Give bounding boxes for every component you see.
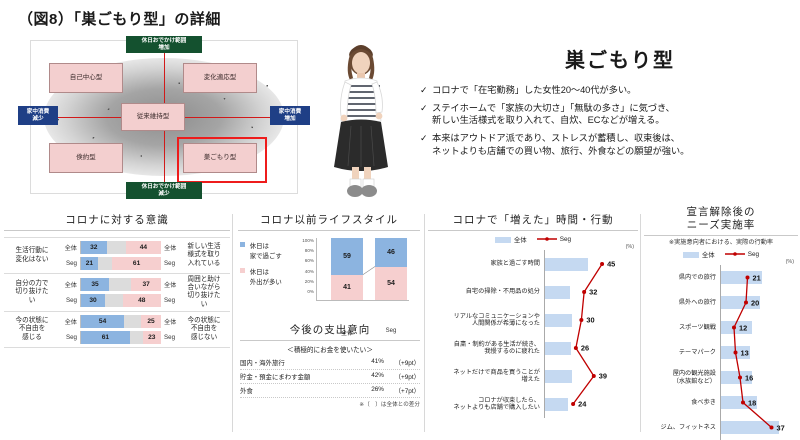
cluster-status-quo: 従来維持型 (121, 103, 185, 131)
chart-row: テーマパーク (644, 340, 798, 365)
legend-item-seg: Seg (537, 236, 571, 243)
bar (721, 321, 752, 334)
bar-segment-left: 35 (81, 278, 109, 291)
spend-delta: （+9pt） (384, 372, 420, 381)
spend-value: 41% (358, 358, 384, 367)
data-label: 26 (581, 344, 589, 353)
bar-track (720, 390, 798, 415)
series-tag: 全体 (161, 241, 178, 254)
axis-label-right: 家中消費 増加 (270, 106, 310, 125)
series-tag: Seg (161, 294, 178, 307)
row-tags-right: 全体Seg (161, 312, 178, 347)
axis-label-left: 家中消費 減少 (18, 106, 58, 125)
bar-segment-neutral (98, 257, 112, 270)
check-icon: ✓ (420, 84, 432, 96)
table-row: 今の状態に 不自由を 感じる全体5425Seg6123全体Seg今の状態に 不自… (4, 312, 230, 348)
stacked-bar: 3244 (80, 241, 161, 254)
panel-increased: コロナで「増えた」時間・行動 全体 Seg (%) 家族と過ごす時間自宅の掃除・… (428, 212, 638, 418)
category-label: 屋内の観光施設 （水族館など） (644, 370, 720, 385)
category-label: スポーツ観戦 (644, 324, 720, 331)
spend-item: 外食 (240, 386, 358, 395)
page-title: （図8）「巣ごもり型」の詳細 (18, 8, 221, 29)
bullet-item: ✓ 本来はアウトドア派であり、ストレスが蓄積し、収束後は、 ネットよりも店舗での… (420, 132, 792, 157)
legend: 全体 Seg (428, 235, 638, 244)
bullet-text: ステイホームで「家族の大切さ」「無駄の多さ」に気づき、 新しい生活様式を取り入れ… (432, 102, 675, 127)
spend-item: 貯金・預金にまわす金額 (240, 372, 358, 381)
column-segment-home: 59 (331, 238, 363, 275)
title-rule (644, 235, 798, 236)
category-label: リアルなコミュニケーションや 人間関係が希薄になった (428, 313, 544, 328)
legend-label: 全体 (514, 237, 527, 244)
category-label: 県内での旅行 (644, 274, 720, 281)
bar-segment-neutral (105, 294, 123, 307)
title-rule (428, 230, 638, 231)
bar-segment-right: 48 (123, 294, 161, 307)
data-label: 37 (777, 423, 785, 432)
legend-label: Seg (748, 251, 759, 258)
cluster-label: 変化適応型 (204, 74, 237, 81)
bar-segment-right: 25 (141, 315, 161, 328)
series-tag: 全体 (161, 315, 178, 328)
series-tag: Seg (60, 260, 80, 267)
data-label: 16 (745, 373, 753, 382)
bar-line: Seg6123 (60, 331, 161, 344)
series-tag: 全体 (60, 243, 80, 252)
chart-row: スポーツ観戦 (644, 315, 798, 340)
legend-label: 休日は 外出が多い (250, 268, 282, 287)
map-frame: 自己中心型 変化適応型 従来維持型 倹約型 巣ごもり型 (30, 40, 298, 194)
data-label: 18 (748, 398, 756, 407)
legend-line-icon (537, 236, 557, 242)
increased-chart: 家族と過ごす時間自宅の掃除・不用品の処分リアルなコミュニケーションや 人間関係が… (428, 250, 638, 418)
list-item: 外食26%（+7pt） (240, 384, 420, 398)
row-label-left: 自分の力で 切り抜けた い (4, 274, 60, 311)
panel-subtitle: ※実施意向者における、実際の行動率 (644, 237, 798, 246)
nesting-highlight-box (177, 137, 267, 183)
axis-tick: 100% (298, 238, 314, 248)
axis-label-bottom: 休日おでかけ範囲 減少 (126, 182, 202, 199)
segment-title: 巣ごもり型 (470, 44, 770, 73)
legend-line-icon (725, 251, 745, 257)
row-label-right: 今の状態に 不自由を 感じない (178, 312, 230, 347)
panel-title: コロナ以前ライフスタイル (238, 212, 420, 227)
stacked-bar: 5425 (80, 315, 161, 328)
category-label: 自粛・制約がある生活が続き、 我慢するのに疲れた (428, 341, 544, 356)
persona-illustration (318, 36, 404, 208)
bar-line: 全体5425 (60, 315, 161, 328)
row-label-left: 今の状態に 不自由を 感じる (4, 312, 60, 347)
data-label: 32 (589, 288, 597, 297)
cluster-self-centered: 自己中心型 (49, 63, 123, 93)
panel-divider-1 (232, 214, 233, 432)
title-rule (238, 230, 420, 231)
bar-segment-right: 23 (143, 331, 161, 344)
slide-root: （図8）「巣ごもり型」の詳細 自己中心型 変化適応型 従来維持型 倹約型 巣ごも… (0, 0, 800, 436)
column-segment-out: 41 (331, 275, 363, 300)
bullet-item: ✓ コロナで「在宅勤務」した女性20～40代が多い。 (420, 84, 792, 97)
legend-item-seg: Seg (725, 251, 759, 258)
category-label: 家族と過ごす時間 (428, 260, 544, 267)
bar-segment-neutral (130, 331, 143, 344)
panel-divider-2 (424, 214, 425, 432)
bar-segment-right: 61 (112, 257, 161, 270)
chart-row: 屋内の観光施設 （水族館など） (644, 365, 798, 390)
legend-item-out: 休日は 外出が多い (240, 268, 282, 287)
quadrant-map: 自己中心型 変化適応型 従来維持型 倹約型 巣ごもり型 休日おでかけ範囲 増加 … (18, 36, 308, 198)
cluster-adaptive: 変化適応型 (183, 63, 257, 93)
bullet-item: ✓ ステイホームで「家族の大切さ」「無駄の多さ」に気づき、 新しい生活様式を取り… (420, 102, 792, 127)
row-tags-right: 全体Seg (161, 274, 178, 311)
panel-divider-3 (640, 214, 641, 432)
bar-line: 全体3244 (60, 241, 161, 254)
bar-segment-left: 54 (81, 315, 124, 328)
chart-row: 食べ歩き (644, 390, 798, 415)
panel-title: 宣言解除後の ニーズ実施率 (644, 206, 798, 232)
data-label: 12 (739, 323, 747, 332)
axis-tick: 60% (298, 258, 314, 268)
bullet-text: 本来はアウトドア派であり、ストレスが蓄積し、収束後は、 ネットよりも店舗での買い… (432, 132, 689, 157)
axis-label-top: 休日おでかけ範囲 増加 (126, 36, 202, 53)
axis-tick: 0% (298, 289, 314, 299)
segment-bullets: ✓ コロナで「在宅勤務」した女性20～40代が多い。 ✓ ステイホームで「家族の… (420, 84, 792, 162)
series-tag: 全体 (60, 317, 80, 326)
series-tag: 全体 (161, 278, 178, 291)
bar-track (720, 415, 798, 440)
stacked-bar: 2161 (80, 257, 161, 270)
panel-title: コロナで「増えた」時間・行動 (428, 212, 638, 227)
row-label-right: 新しい生活 様式を取り 入れている (178, 238, 230, 273)
data-label: 30 (586, 316, 594, 325)
bar (545, 258, 588, 271)
bar-segment-left: 61 (81, 331, 130, 344)
category-label: 自宅の掃除・不用品の処分 (428, 288, 544, 295)
panel-post-declaration: 宣言解除後の ニーズ実施率 ※実施意向者における、実際の行動率 全体 Seg (… (644, 206, 798, 440)
legend-item-total: 全体 (495, 235, 527, 244)
spend-note: ※（ ）は全体との差分 (240, 400, 420, 408)
cluster-label: 自己中心型 (70, 74, 103, 81)
bar-track (720, 365, 798, 390)
bar (545, 370, 572, 383)
spend-value: 42% (358, 372, 384, 381)
spend-subtitle: ＜積極的にお金を使いたい＞ (240, 344, 420, 354)
axis-tick: 80% (298, 248, 314, 258)
series-tag: Seg (60, 297, 80, 304)
bar-segment-left: 30 (81, 294, 105, 307)
bar (545, 286, 570, 299)
table-row: 生活行動に 変化はない全体3244Seg2161全体Seg新しい生活 様式を取り… (4, 237, 230, 274)
cluster-frugal: 倹約型 (49, 143, 123, 173)
bar (721, 421, 779, 434)
category-label: コロナが収束したら、 ネットよりも店舗で購入したい (428, 397, 544, 412)
bar (545, 314, 572, 327)
list-item: 貯金・預金にまわす金額42%（+9pt） (240, 370, 420, 384)
row-bars: 全体5425Seg6123 (60, 312, 161, 347)
legend: 休日は 家で過ごす 休日は 外出が多い (240, 242, 282, 287)
column-segment-home: 46 (375, 238, 407, 267)
column-segment-out: 54 (375, 267, 407, 300)
legend-label: Seg (560, 236, 571, 243)
attitude-chart: 生活行動に 変化はない全体3244Seg2161全体Seg新しい生活 様式を取り… (4, 237, 230, 348)
check-icon: ✓ (420, 132, 432, 144)
stacked-column-plot: 5941全体4654Seg (316, 238, 409, 301)
check-icon: ✓ (420, 102, 432, 114)
category-label: 県外への旅行 (644, 299, 720, 306)
legend-item-total: 全体 (683, 250, 715, 259)
chart-row: リアルなコミュニケーションや 人間関係が希薄になった (428, 306, 638, 334)
category-label: テーマパーク (644, 349, 720, 356)
row-tags-right: 全体Seg (161, 238, 178, 273)
category-label: ジム、フィットネス (644, 424, 720, 431)
bar-segment-right: 44 (126, 241, 161, 254)
series-tag: Seg (60, 334, 80, 341)
spend-delta: （+9pt） (384, 358, 420, 367)
spend-value: 26% (358, 386, 384, 395)
bar-track (544, 362, 638, 390)
panel-title: コロナに対する意識 (4, 212, 230, 227)
stacked-bar: 3048 (80, 294, 161, 307)
table-row: 自分の力で 切り抜けた い全体3537Seg3048全体Seg周囲と助け 合いな… (4, 274, 230, 312)
legend-label: 休日は 家で過ごす (250, 242, 282, 261)
data-label: 24 (578, 400, 586, 409)
chart-row: ジム、フィットネス (644, 415, 798, 440)
series-tag: Seg (161, 331, 178, 344)
bar-segment-right: 37 (131, 278, 161, 291)
title-rule (240, 340, 420, 341)
category-label: ネットだけで商品を買うことが 増えた (428, 369, 544, 384)
bar-track (544, 250, 638, 278)
panel-spend-intent: 今後の支出意向 ＜積極的にお金を使いたい＞ 国内・海外旅行41%（+9pt）貯金… (240, 322, 420, 408)
legend-swatch-icon (240, 268, 245, 273)
series-tag: Seg (161, 257, 178, 270)
bar-segment-neutral (124, 315, 141, 328)
chart-row: 県内での旅行 (644, 265, 798, 290)
bar-segment-left: 32 (81, 241, 107, 254)
bar-track (720, 340, 798, 365)
bar-track (544, 390, 638, 418)
bar-segment-neutral (107, 241, 126, 254)
bar-track (720, 315, 798, 340)
legend-swatch-icon (240, 242, 245, 247)
panel-attitude: コロナに対する意識 生活行動に 変化はない全体3244Seg2161全体Seg新… (4, 212, 230, 348)
bar-segment-left: 21 (81, 257, 98, 270)
cluster-label: 倹約型 (76, 154, 96, 161)
series-tag: 全体 (60, 280, 80, 289)
legend-bar-icon (683, 252, 699, 258)
column: 4654 (375, 238, 407, 300)
title-rule (4, 230, 230, 231)
list-item: 国内・海外旅行41%（+9pt） (240, 356, 420, 370)
category-label: 食べ歩き (644, 399, 720, 406)
stacked-bar: 6123 (80, 331, 161, 344)
bar-line: Seg3048 (60, 294, 161, 307)
data-label: 13 (741, 348, 749, 357)
panel-title: 今後の支出意向 (240, 322, 420, 337)
axis-tick: 40% (298, 269, 314, 279)
row-bars: 全体3244Seg2161 (60, 238, 161, 273)
legend-bar-icon (495, 237, 511, 243)
data-label: 21 (753, 273, 761, 282)
row-label-right: 周囲と助け 合いながら 切り抜けた い (178, 274, 230, 311)
chart-row: 自宅の掃除・不用品の処分 (428, 278, 638, 306)
spend-delta: （+7pt） (384, 386, 420, 395)
bar-track (544, 334, 638, 362)
row-label-left: 生活行動に 変化はない (4, 238, 60, 273)
data-label: 39 (599, 372, 607, 381)
post-declaration-chart: 県内での旅行県外への旅行スポーツ観戦テーマパーク屋内の観光施設 （水族館など）食… (644, 265, 798, 440)
bar-segment-neutral (109, 278, 131, 291)
data-label: 20 (751, 298, 759, 307)
legend-item-home: 休日は 家で過ごす (240, 242, 282, 261)
cluster-label: 従来維持型 (137, 113, 170, 120)
axis-tick: 20% (298, 279, 314, 289)
column: 5941 (331, 238, 363, 300)
legend-label: 全体 (702, 252, 715, 259)
bullet-text: コロナで「在宅勤務」した女性20～40代が多い。 (432, 84, 636, 97)
spend-table: 国内・海外旅行41%（+9pt）貯金・預金にまわす金額42%（+9pt）外食26… (240, 356, 420, 398)
stacked-bar: 3537 (80, 278, 161, 291)
panel-prev-lifestyle: コロナ以前ライフスタイル 休日は 家で過ごす 休日は 外出が多い 100%80%… (238, 212, 420, 316)
spend-item: 国内・海外旅行 (240, 358, 358, 367)
bar-line: Seg2161 (60, 257, 161, 270)
chart-row: 自粛・制約がある生活が続き、 我慢するのに疲れた (428, 334, 638, 362)
row-bars: 全体3537Seg3048 (60, 274, 161, 311)
legend: 全体 Seg (644, 250, 798, 259)
chart-row: 県外への旅行 (644, 290, 798, 315)
y-axis-ticks: 100%80%60%40%20%0% (298, 238, 314, 299)
data-label: 45 (607, 260, 615, 269)
bar (545, 342, 571, 355)
bar-line: 全体3537 (60, 278, 161, 291)
bar (545, 398, 568, 411)
chart-row: コロナが収束したら、 ネットよりも店舗で購入したい (428, 390, 638, 418)
